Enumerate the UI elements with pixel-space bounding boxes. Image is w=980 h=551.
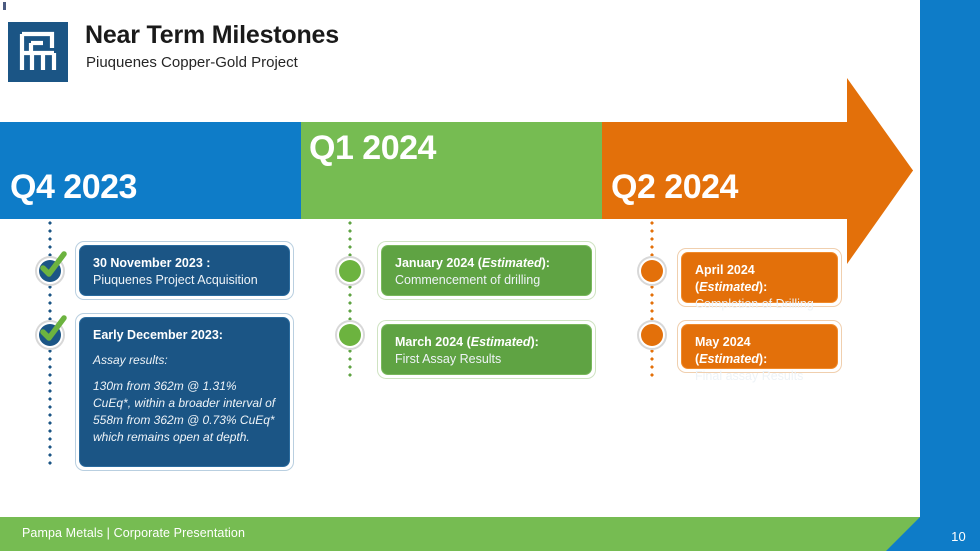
footer-label: Pampa Metals | Corporate Presentation (22, 526, 245, 540)
card-headline: January 2024 (Estimated): (395, 255, 579, 272)
node-fill (339, 324, 361, 346)
node-fill (641, 260, 663, 282)
milestone-node-m3[interactable] (335, 256, 365, 286)
card-headline-post: ): (759, 280, 767, 294)
milestone-card-m5[interactable]: April 2024 (Estimated): Completion of Dr… (677, 248, 842, 307)
card-headline: April 2024 (Estimated): (695, 262, 825, 296)
page-subtitle: Piuquenes Copper-Gold Project (86, 55, 339, 72)
milestone-card-m2[interactable]: Early December 2023: Assay results: 130m… (75, 313, 294, 471)
card-subline: First Assay Results (395, 351, 579, 368)
card-headline: Early December 2023: (93, 327, 277, 344)
node-fill (39, 324, 61, 346)
node-fill (39, 260, 61, 282)
page-number: 10 (951, 529, 966, 544)
card-body: 130m from 362m @ 1.31% CuEq*, within a b… (93, 378, 277, 446)
card-headline-post: ): (530, 335, 538, 349)
card-headline-pre: January 2024 ( (395, 256, 482, 270)
milestone-card-m3[interactable]: January 2024 (Estimated): Commencement o… (377, 241, 596, 300)
milestone-card-m4[interactable]: March 2024 (Estimated): First Assay Resu… (377, 320, 596, 379)
milestone-node-m5[interactable] (637, 256, 667, 286)
card-headline-post: ): (759, 352, 767, 366)
node-fill (641, 324, 663, 346)
node-fill (339, 260, 361, 282)
connector-track-q2 (650, 219, 654, 379)
card-inner: May 2024 (Estimated): Final assay Result… (681, 324, 838, 369)
milestone-node-m1[interactable] (35, 256, 65, 286)
quarter-label-q4: Q4 2023 (10, 170, 137, 204)
card-headline-post: ): (542, 256, 550, 270)
card-subline: Commencement of drilling (395, 272, 579, 289)
card-inner: 30 November 2023 : Piuquenes Project Acq… (79, 245, 290, 296)
card-inner: April 2024 (Estimated): Completion of Dr… (681, 252, 838, 303)
card-body-intro: Assay results: (93, 352, 277, 369)
card-headline-pre: March 2024 ( (395, 335, 471, 349)
card-headline: May 2024 (Estimated): (695, 334, 825, 368)
card-subline: Completion of Drilling (695, 296, 825, 313)
card-subline: Final assay Results (695, 368, 825, 385)
artifact-speck (3, 2, 6, 10)
pampa-metals-logo (8, 22, 68, 82)
card-headline-estimated: Estimated (482, 256, 542, 270)
slide: Near Term Milestones Piuquenes Copper-Go… (0, 0, 980, 551)
card-headline-estimated: Estimated (471, 335, 531, 349)
milestone-node-m4[interactable] (335, 320, 365, 350)
card-headline-estimated: Estimated (699, 280, 759, 294)
milestone-card-m6[interactable]: May 2024 (Estimated): Final assay Result… (677, 320, 842, 373)
page-title: Near Term Milestones (85, 22, 339, 50)
quarter-label-q2: Q2 2024 (611, 170, 738, 204)
card-subline: Piuquenes Project Acquisition (93, 272, 277, 289)
milestone-card-m1[interactable]: 30 November 2023 : Piuquenes Project Acq… (75, 241, 294, 300)
card-inner: Early December 2023: Assay results: 130m… (79, 317, 290, 467)
card-headline-estimated: Estimated (699, 352, 759, 366)
card-headline: 30 November 2023 : (93, 255, 277, 272)
milestone-node-m2[interactable] (35, 320, 65, 350)
milestone-node-m6[interactable] (637, 320, 667, 350)
card-inner: March 2024 (Estimated): First Assay Resu… (381, 324, 592, 375)
card-inner: January 2024 (Estimated): Commencement o… (381, 245, 592, 296)
connector-track-q1 (348, 219, 352, 379)
right-blue-rail (920, 0, 980, 551)
card-headline: March 2024 (Estimated): (395, 334, 579, 351)
quarter-label-q1: Q1 2024 (309, 131, 436, 165)
title-block: Near Term Milestones Piuquenes Copper-Go… (85, 22, 339, 71)
